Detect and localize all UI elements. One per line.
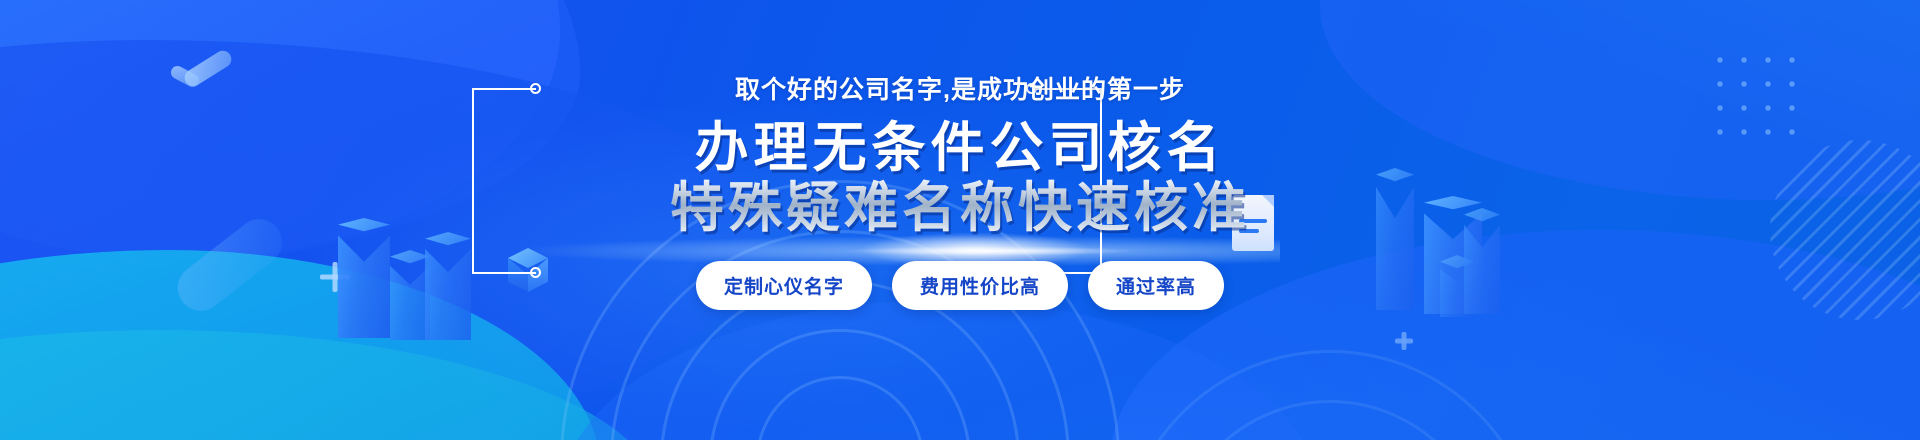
feature-pill-list: 定制心仪名字 费用性价比高 通过率高 — [696, 261, 1224, 310]
banner-headline: 办理无条件公司核名 特殊疑难名称快速核准 — [670, 118, 1250, 239]
promo-banner: 取个好的公司名字,是成功创业的第一步 办理无条件公司核名 特殊疑难名称快速核准 … — [0, 0, 1920, 440]
feature-pill-cost-value[interactable]: 费用性价比高 — [892, 261, 1068, 310]
headline-line-2: 特殊疑难名称快速核准 — [670, 178, 1250, 238]
headline-line-1: 办理无条件公司核名 — [670, 118, 1250, 178]
feature-pill-custom-name[interactable]: 定制心仪名字 — [696, 261, 872, 310]
feature-pill-pass-rate[interactable]: 通过率高 — [1088, 261, 1224, 310]
banner-subtitle: 取个好的公司名字,是成功创业的第一步 — [735, 70, 1185, 106]
banner-content: 取个好的公司名字,是成功创业的第一步 办理无条件公司核名 特殊疑难名称快速核准 … — [0, 0, 1920, 440]
